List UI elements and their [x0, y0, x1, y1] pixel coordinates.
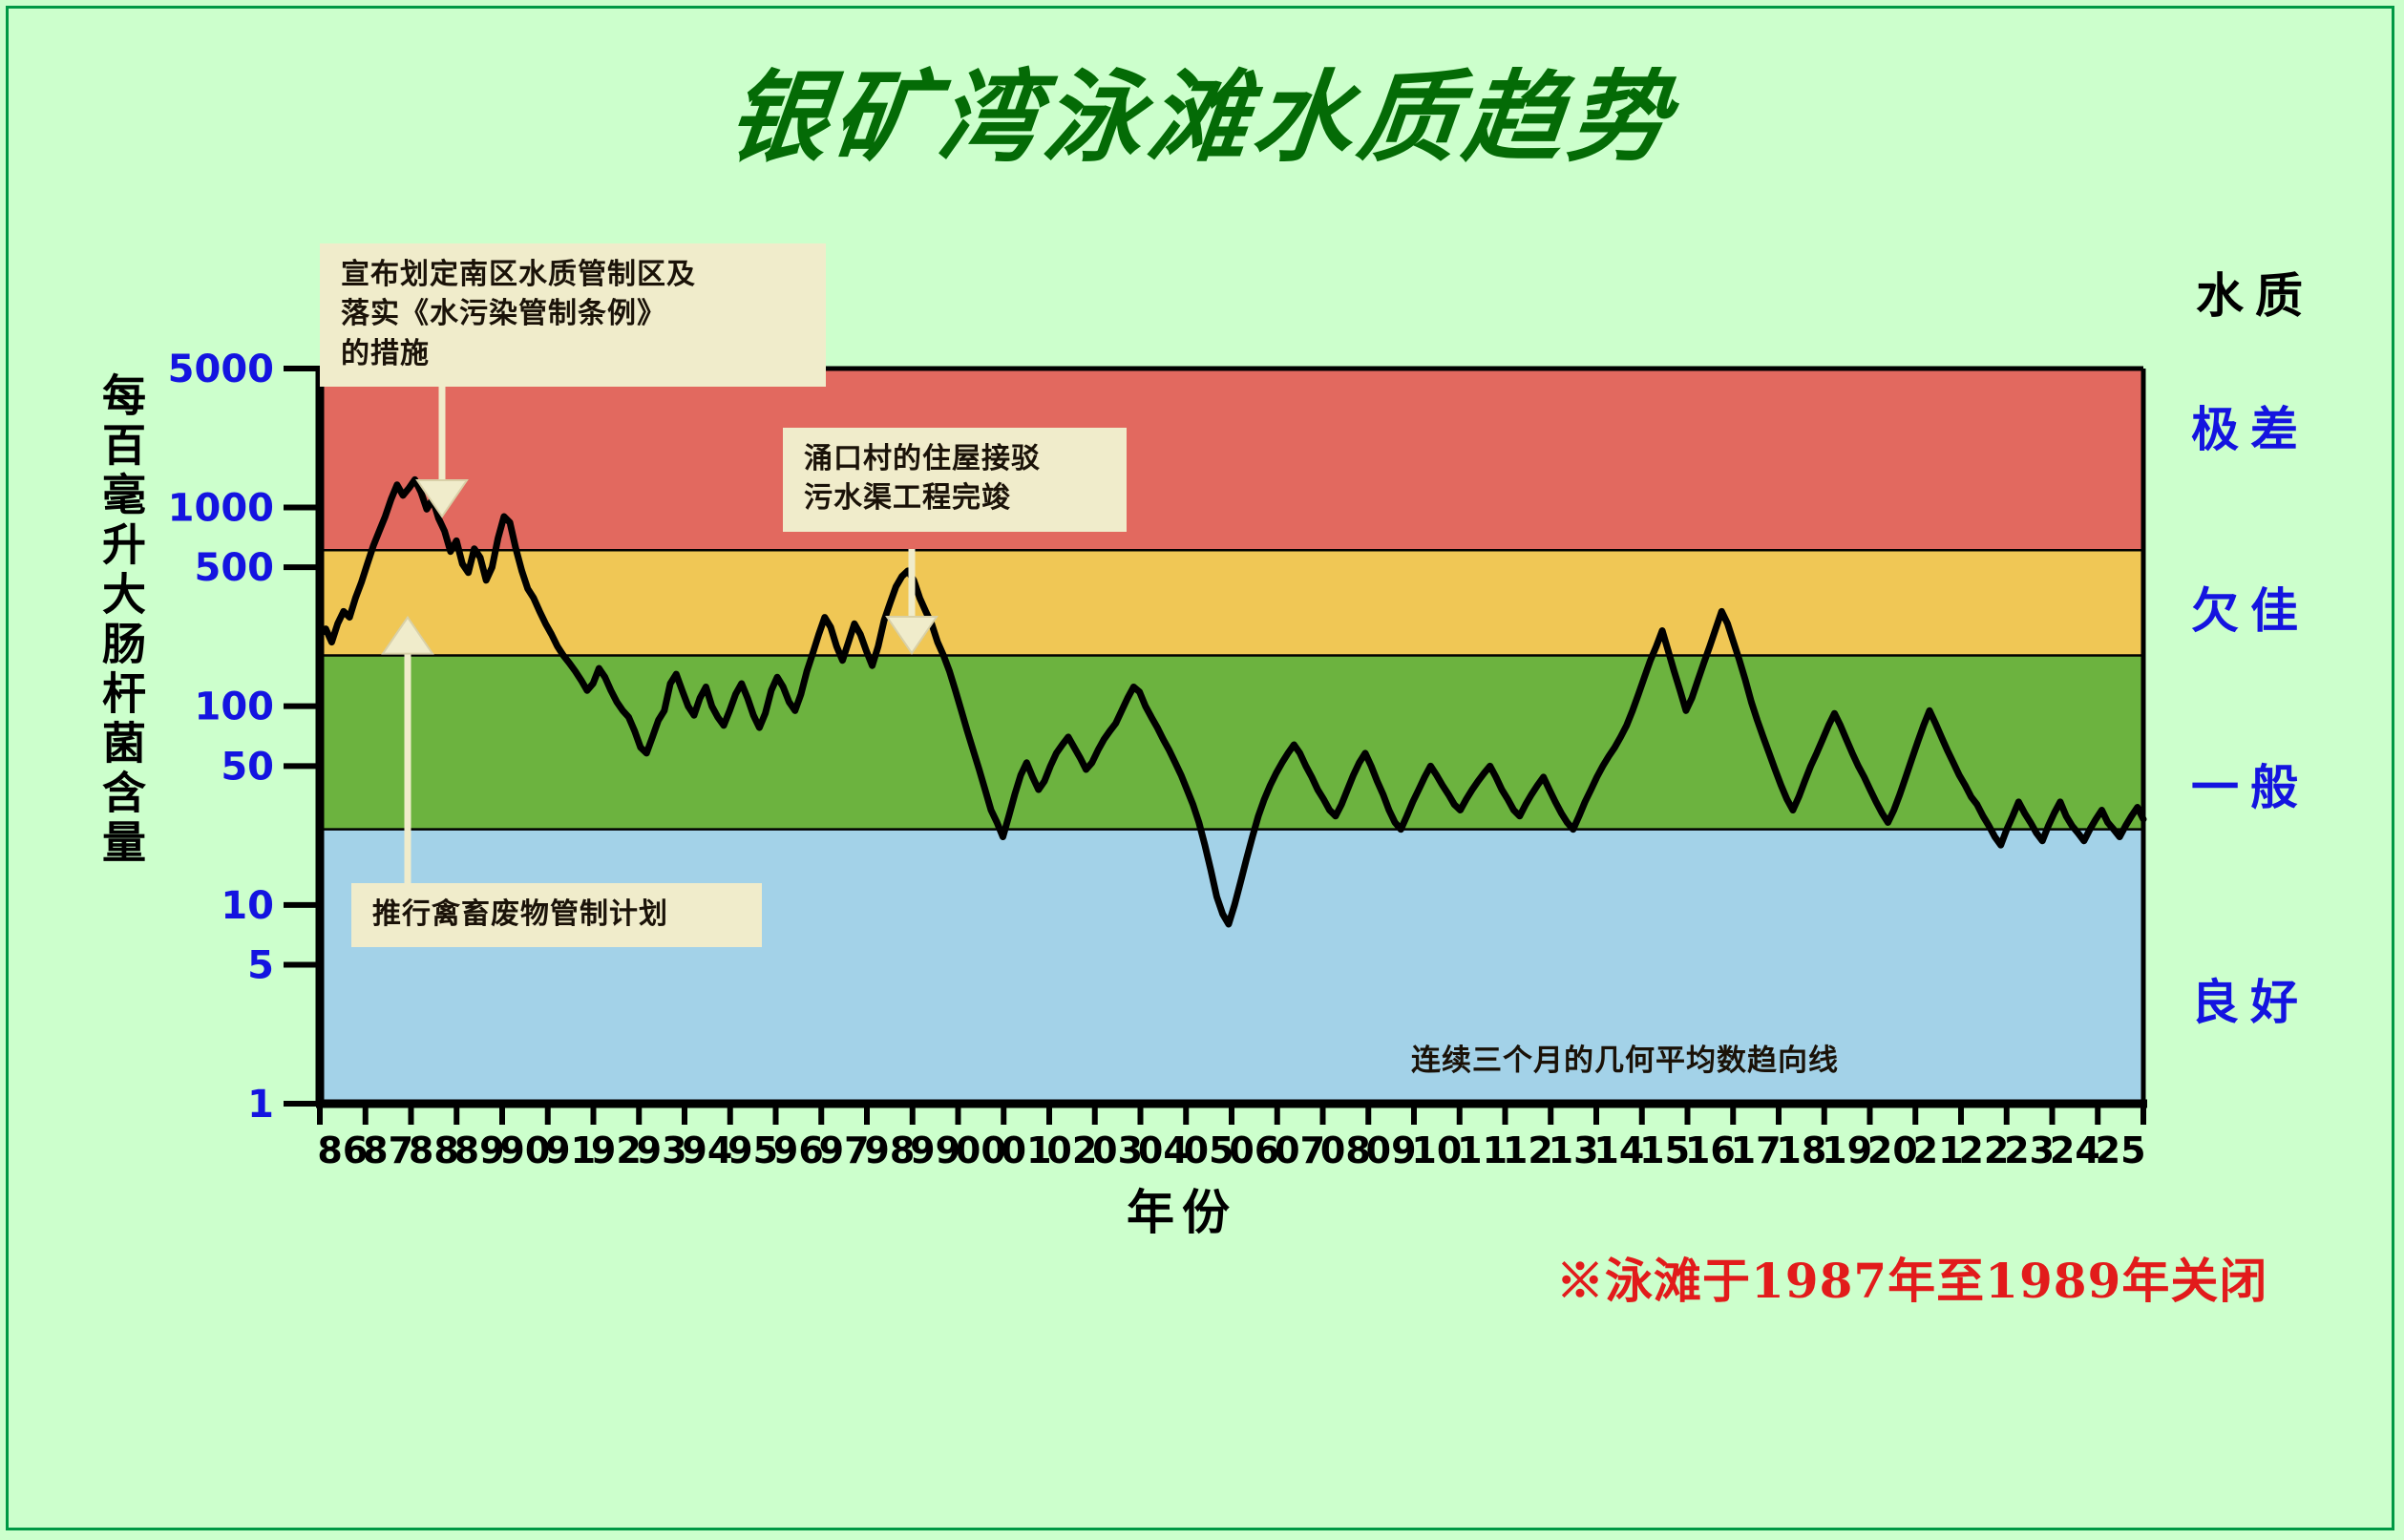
y-tick-labels: 15105010050010005000 — [168, 348, 274, 1127]
svg-text:19: 19 — [1822, 1129, 1872, 1171]
svg-text:87: 87 — [363, 1129, 413, 1171]
svg-text:11: 11 — [1457, 1129, 1508, 1171]
svg-text:22: 22 — [1958, 1129, 2009, 1171]
svg-text:07: 07 — [1275, 1129, 1325, 1171]
water-quality-chart: 15105010050010005000 8687888990919293949… — [0, 0, 2404, 1540]
svg-text:98: 98 — [864, 1129, 915, 1171]
quality-bands — [320, 369, 2143, 1104]
svg-text:99: 99 — [910, 1129, 960, 1171]
inchart-series-note: 连续三个月的几何平均数趋向线 — [1411, 1036, 1839, 1079]
svg-text:100: 100 — [195, 686, 275, 729]
svg-text:17: 17 — [1731, 1129, 1782, 1171]
svg-text:04: 04 — [1138, 1129, 1189, 1171]
svg-text:5: 5 — [247, 943, 274, 987]
svg-text:16: 16 — [1685, 1129, 1736, 1171]
svg-text:5000: 5000 — [168, 348, 274, 391]
svg-text:20: 20 — [1867, 1129, 1918, 1171]
svg-text:09: 09 — [1366, 1129, 1417, 1171]
svg-text:92: 92 — [591, 1129, 642, 1171]
svg-text:1: 1 — [247, 1083, 274, 1127]
svg-text:03: 03 — [1092, 1129, 1143, 1171]
svg-text:500: 500 — [195, 546, 275, 590]
svg-text:95: 95 — [728, 1129, 778, 1171]
svg-text:25: 25 — [2096, 1129, 2146, 1171]
svg-text:10: 10 — [221, 884, 274, 928]
svg-text:10: 10 — [1411, 1129, 1462, 1171]
annotation-callout-livestock-waste: 推行禽畜废物管制计划 — [351, 883, 762, 947]
svg-text:94: 94 — [682, 1129, 732, 1171]
svg-text:08: 08 — [1320, 1129, 1371, 1171]
x-tick-labels: 8687888990919293949596979899000102030405… — [317, 1129, 2145, 1171]
svg-text:93: 93 — [637, 1129, 687, 1171]
svg-text:21: 21 — [1913, 1129, 1964, 1171]
svg-text:88: 88 — [409, 1129, 459, 1171]
svg-text:24: 24 — [2050, 1129, 2100, 1171]
svg-text:89: 89 — [454, 1129, 505, 1171]
svg-text:96: 96 — [773, 1129, 824, 1171]
svg-text:86: 86 — [317, 1129, 368, 1171]
svg-text:23: 23 — [2004, 1129, 2055, 1171]
svg-text:1000: 1000 — [168, 487, 274, 531]
svg-text:91: 91 — [545, 1129, 596, 1171]
svg-text:50: 50 — [221, 745, 274, 789]
svg-text:13: 13 — [1549, 1129, 1599, 1171]
svg-text:05: 05 — [1184, 1129, 1234, 1171]
svg-text:15: 15 — [1639, 1129, 1690, 1171]
annotation-callout-south-district: 宣布划定南区水质管制区及 落实《水污染管制条例》 的措施 — [320, 243, 826, 387]
svg-text:90: 90 — [499, 1129, 550, 1171]
svg-text:06: 06 — [1229, 1129, 1279, 1171]
svg-text:00: 00 — [956, 1129, 1006, 1171]
svg-text:97: 97 — [819, 1129, 870, 1171]
svg-text:14: 14 — [1593, 1129, 1644, 1171]
svg-text:01: 01 — [1002, 1129, 1052, 1171]
svg-text:18: 18 — [1776, 1129, 1826, 1171]
annotation-callout-sewer-connection: 涌口村的住屋接驳 污水渠工程完竣 — [783, 428, 1127, 532]
svg-text:02: 02 — [1046, 1129, 1097, 1171]
svg-text:12: 12 — [1503, 1129, 1553, 1171]
